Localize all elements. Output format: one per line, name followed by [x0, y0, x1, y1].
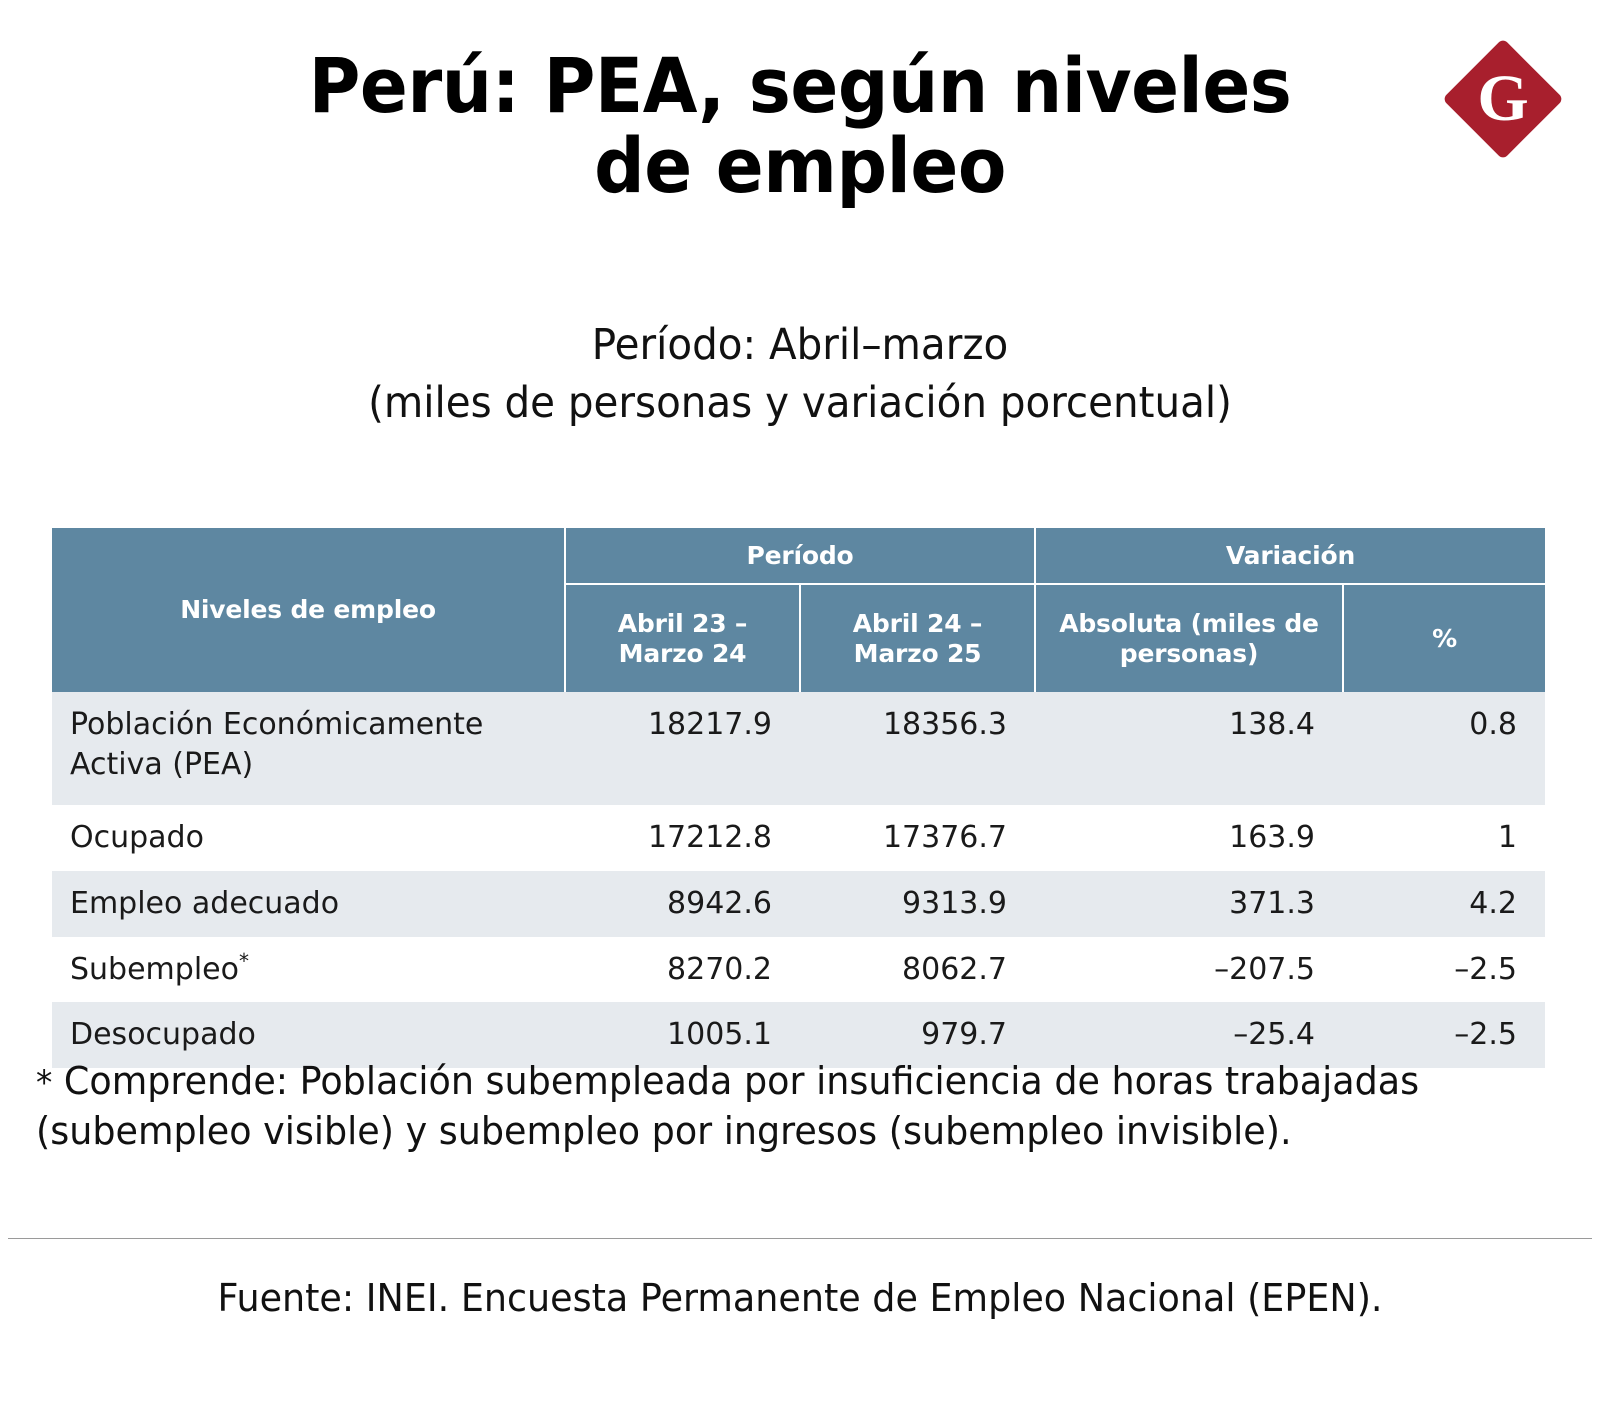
row-label: Subempleo* [52, 937, 565, 1003]
footnote: * Comprende: Población subempleada por i… [36, 1056, 1505, 1156]
footnote-text: Comprende: Población subempleada por ins… [36, 1059, 1419, 1153]
column-header-porcentaje: % [1343, 584, 1545, 692]
page-title-line-1: Perú: PEA, según niveles [279, 46, 1321, 126]
table-row: Población Económicamente Activa (PEA) 18… [52, 692, 1545, 805]
cell-absoluta: 371.3 [1035, 871, 1343, 937]
title-block: Perú: PEA, según niveles de empleo [0, 46, 1600, 206]
row-label: Empleo adecuado [52, 871, 565, 937]
page-title-line-2: de empleo [279, 126, 1321, 206]
subtitle-period: Período: Abril–marzo [48, 316, 1552, 374]
gestion-logo: G [1444, 40, 1562, 158]
column-header-absoluta: Absoluta (miles de personas) [1035, 584, 1343, 692]
column-header-abril23-marzo24: Abril 23 – Marzo 24 [565, 584, 800, 692]
cell-porcentaje: 1 [1343, 805, 1545, 871]
cell-porcentaje: 0.8 [1343, 692, 1545, 805]
table-body: Población Económicamente Activa (PEA) 18… [52, 692, 1545, 1068]
subtitle-units: (miles de personas y variación porcentua… [48, 374, 1552, 432]
logo-letter: G [1444, 40, 1562, 158]
column-header-abril24-marzo25-line2: Marzo 25 [854, 639, 982, 668]
cell-abril23-marzo24: 18217.9 [565, 692, 800, 805]
cell-abril23-marzo24: 17212.8 [565, 805, 800, 871]
divider-rule [8, 1238, 1592, 1239]
table-header-group-row: Niveles de empleo Período Variación [52, 528, 1545, 584]
column-header-abril24-marzo25-line1: Abril 24 – [853, 609, 982, 638]
cell-abril24-marzo25: 9313.9 [800, 871, 1035, 937]
table-row: Subempleo* 8270.2 8062.7 –207.5 –2.5 [52, 937, 1545, 1003]
cell-abril24-marzo25: 18356.3 [800, 692, 1035, 805]
cell-porcentaje: –2.5 [1343, 937, 1545, 1003]
cell-abril24-marzo25: 17376.7 [800, 805, 1035, 871]
table-row: Ocupado 17212.8 17376.7 163.9 1 [52, 805, 1545, 871]
page-title: Perú: PEA, según niveles de empleo [279, 46, 1321, 206]
source-line: Fuente: INEI. Encuesta Permanente de Emp… [32, 1276, 1568, 1320]
cell-absoluta: –207.5 [1035, 937, 1343, 1003]
table-head: Niveles de empleo Período Variación Abri… [52, 528, 1545, 692]
employment-levels-table: Niveles de empleo Período Variación Abri… [52, 528, 1545, 1068]
table-row: Empleo adecuado 8942.6 9313.9 371.3 4.2 [52, 871, 1545, 937]
cell-absoluta: 163.9 [1035, 805, 1343, 871]
column-header-abril23-marzo24-line2: Marzo 24 [619, 639, 747, 668]
footnote-marker: * [239, 949, 249, 973]
cell-absoluta: 138.4 [1035, 692, 1343, 805]
column-header-niveles-de-empleo: Niveles de empleo [52, 528, 565, 692]
row-label-text: Subempleo [70, 952, 239, 987]
subtitle-block: Período: Abril–marzo (miles de personas … [0, 316, 1600, 432]
column-group-header-periodo: Período [565, 528, 1035, 584]
column-header-abril23-marzo24-line1: Abril 23 – [618, 609, 747, 638]
column-group-header-variacion: Variación [1035, 528, 1545, 584]
cell-abril24-marzo25: 8062.7 [800, 937, 1035, 1003]
column-header-abril24-marzo25: Abril 24 – Marzo 25 [800, 584, 1035, 692]
cell-abril23-marzo24: 8942.6 [565, 871, 800, 937]
footnote-asterisk: * [36, 1063, 52, 1103]
data-table-wrapper: Niveles de empleo Período Variación Abri… [52, 528, 1545, 1068]
cell-porcentaje: 4.2 [1343, 871, 1545, 937]
row-label: Ocupado [52, 805, 565, 871]
cell-abril23-marzo24: 8270.2 [565, 937, 800, 1003]
row-label: Población Económicamente Activa (PEA) [52, 692, 565, 805]
